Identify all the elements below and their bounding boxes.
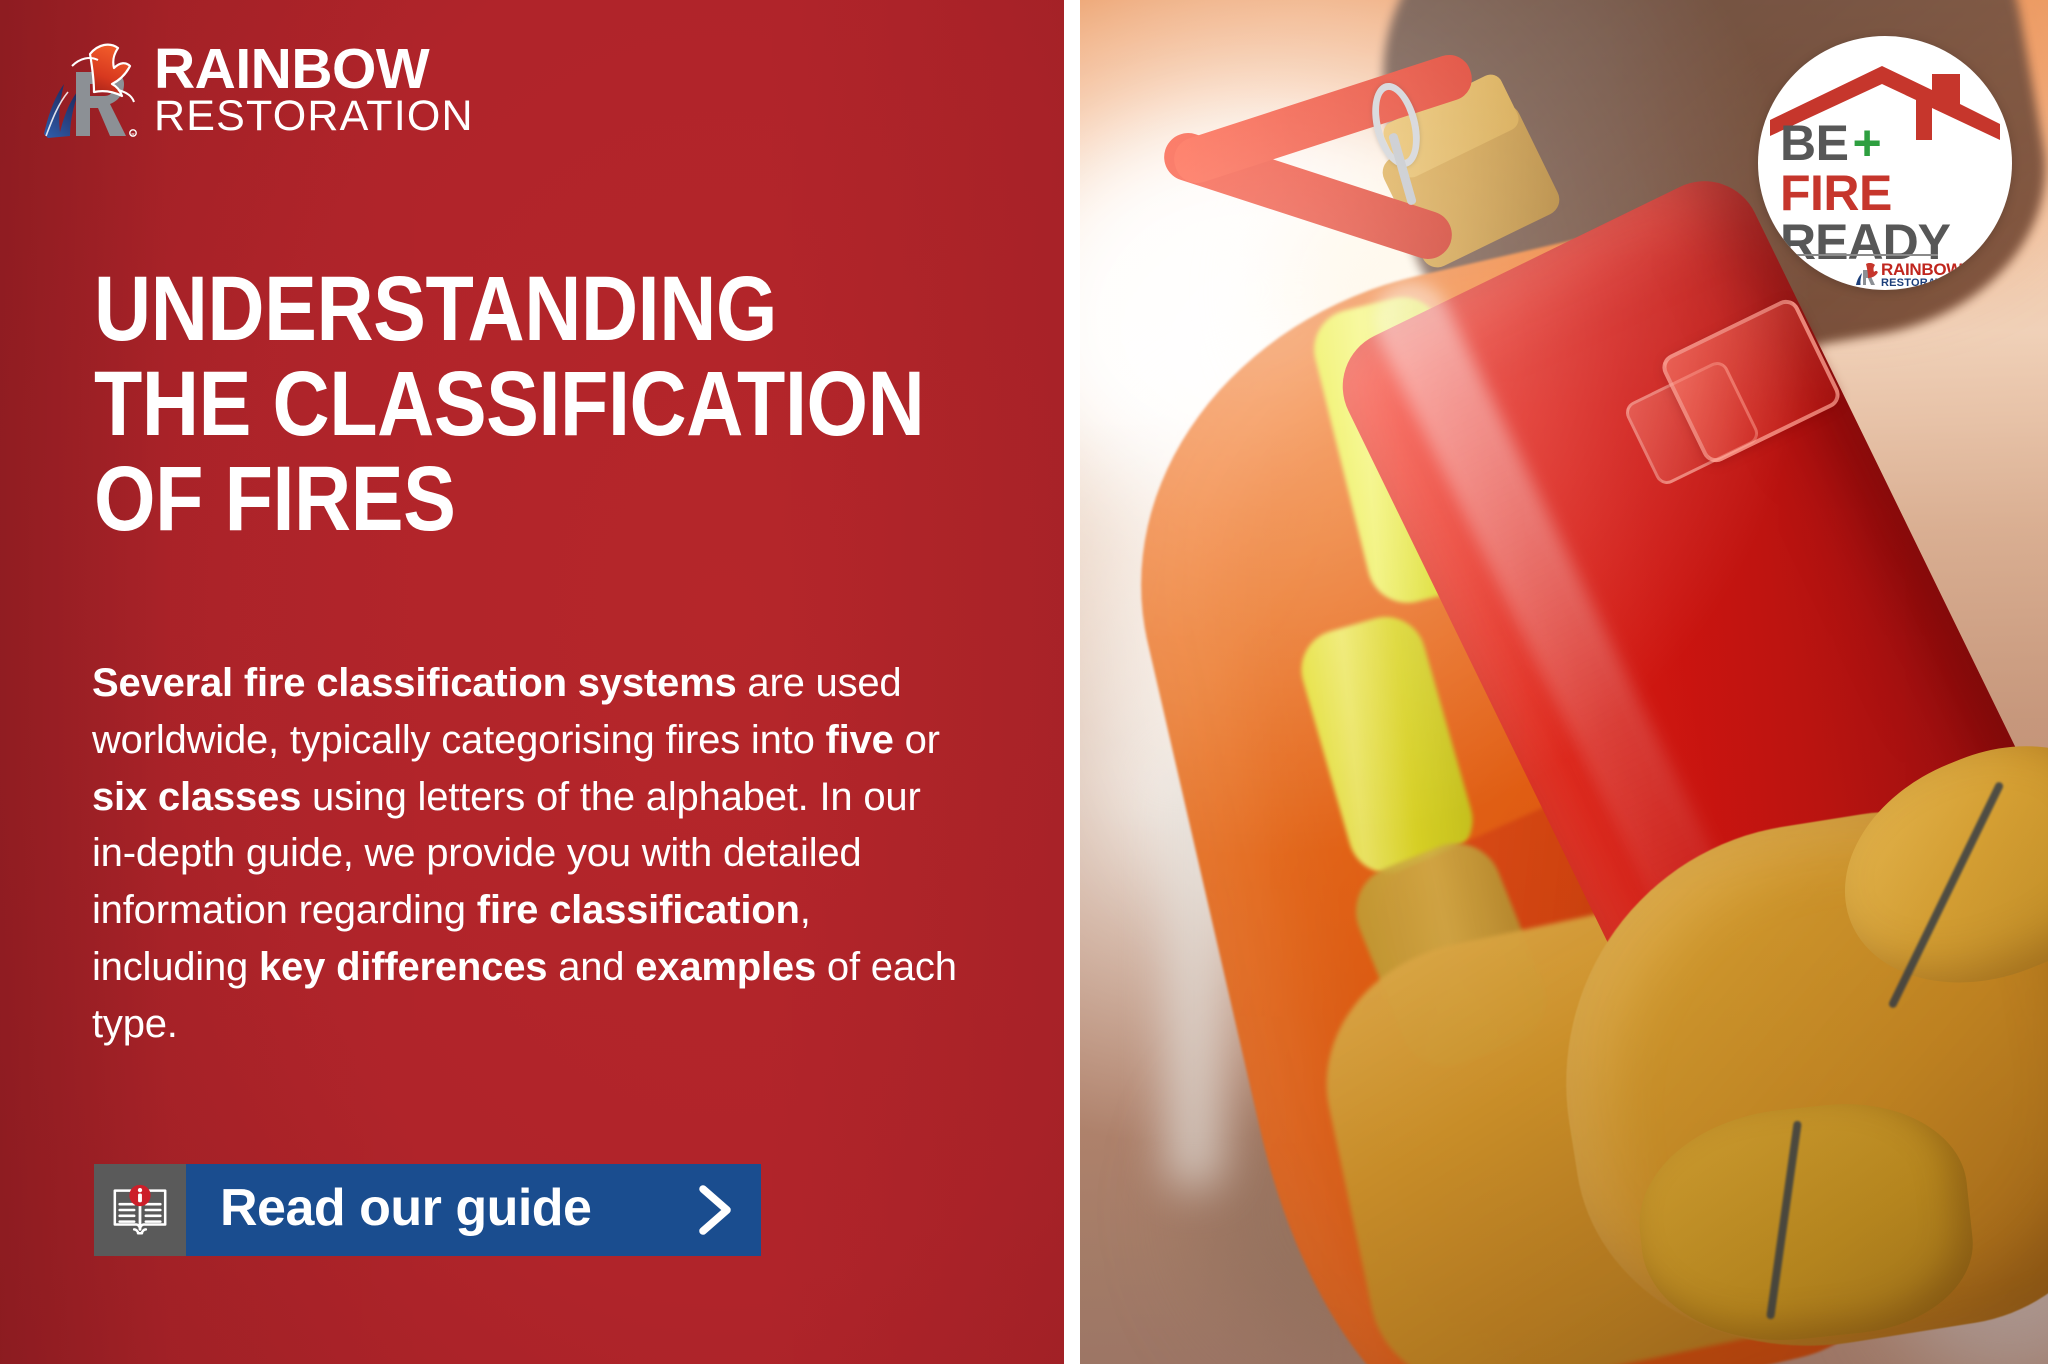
headline-line-2: THE CLASSIFICATION: [94, 357, 868, 452]
be-fire-ready-badge: BE + FIRE READY: [1758, 36, 2012, 290]
badge-plus-icon: +: [1852, 126, 1881, 161]
body-segment-2: five: [826, 718, 894, 762]
read-our-guide-button[interactable]: Read our guide: [94, 1164, 761, 1256]
logo-text-restoration: RESTORATION: [154, 97, 474, 137]
chevron-right-icon: [697, 1185, 733, 1235]
brand-logo[interactable]: R RAINBOW RESTORATION: [34, 38, 474, 146]
fire-extinguisher-photo: BE + FIRE READY: [1080, 0, 2048, 1364]
body-segment-4: six classes: [92, 775, 301, 819]
rainbow-restoration-bird-flame-logo-icon: R: [34, 38, 142, 146]
body-segment-3: or: [894, 718, 940, 762]
badge-brand-logo: RAINBOW RESTORATION: [1854, 262, 1962, 288]
body-segment-9: and: [547, 945, 635, 989]
body-segment-8: key differences: [259, 945, 547, 989]
body-paragraph: Several fire classification systems are …: [92, 655, 972, 1053]
cta-label: Read our guide: [220, 1182, 591, 1238]
badge-logo-restoration: RESTORATION: [1881, 278, 1962, 288]
badge-text-block: BE + FIRE READY: [1780, 120, 1994, 267]
body-segment-10: examples: [635, 945, 816, 989]
body-segment-6: fire classification: [477, 888, 800, 932]
headline-line-1: UNDERSTANDING: [94, 262, 868, 357]
badge-divider: [1786, 254, 1938, 256]
fire-classification-banner: R RAINBOW RESTORATION UNDERSTANDING THE …: [0, 0, 2048, 1364]
logo-text-rainbow: RAINBOW: [154, 43, 474, 95]
open-book-info-icon: [94, 1164, 186, 1256]
cta-body: Read our guide: [186, 1164, 761, 1256]
headline-line-3: OF FIRES: [94, 452, 868, 547]
page-title: UNDERSTANDING THE CLASSIFICATION OF FIRE…: [94, 262, 868, 546]
body-segment-0: Several fire classification systems: [92, 661, 737, 705]
badge-line-be: BE: [1780, 120, 1848, 168]
left-content-panel: R RAINBOW RESTORATION UNDERSTANDING THE …: [0, 0, 1064, 1364]
badge-logo-rainbow: RAINBOW: [1881, 262, 1962, 278]
badge-line-fire: FIRE: [1780, 170, 1892, 218]
badge-rainbow-logo-icon: [1854, 263, 1878, 287]
